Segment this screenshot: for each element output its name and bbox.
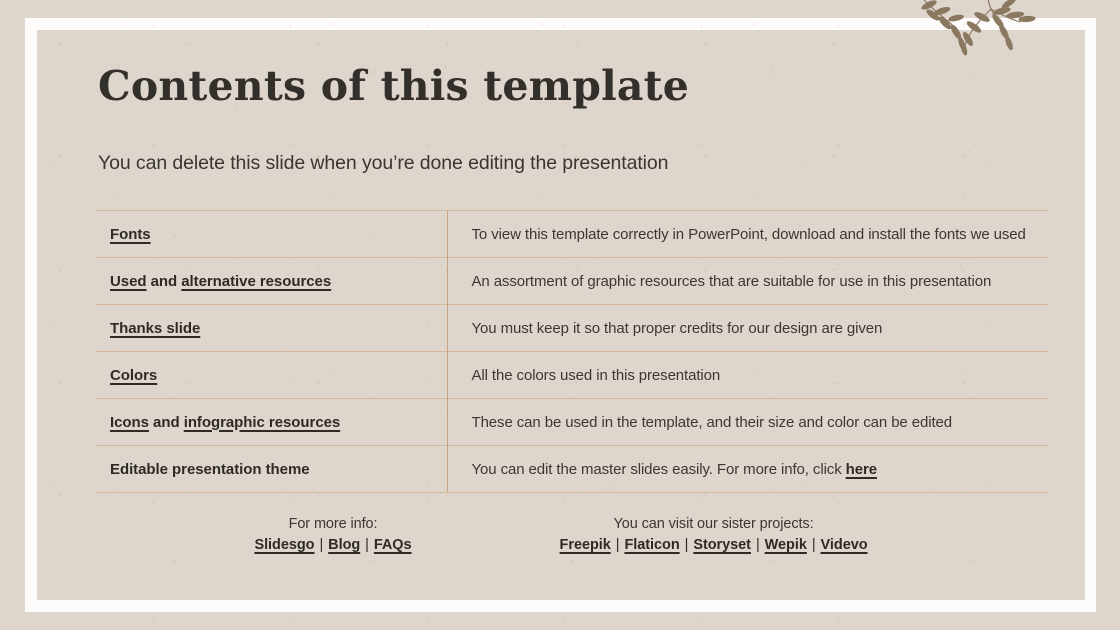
table-cell-label: Thanks slide	[95, 305, 447, 352]
table-label-link[interactable]: infographic resources	[184, 414, 341, 431]
table-row: Thanks slideYou must keep it so that pro…	[95, 305, 1048, 352]
table-label-link[interactable]: Used	[110, 273, 146, 290]
footer: For more info: Slidesgo | Blog | FAQs Yo…	[37, 514, 1085, 557]
table-cell-label: Icons and infographic resources	[95, 399, 447, 446]
table-label-text: Editable presentation theme	[110, 461, 310, 478]
table-label-link[interactable]: Icons	[110, 414, 149, 431]
table-row: Used and alternative resourcesAn assortm…	[95, 258, 1048, 305]
table-cell-label: Colors	[95, 352, 447, 399]
page-title: Contents of this template	[98, 62, 689, 110]
contents-table-body: FontsTo view this template correctly in …	[95, 211, 1048, 493]
contents-table: FontsTo view this template correctly in …	[95, 210, 1048, 493]
table-cell-description: These can be used in the template, and t…	[447, 399, 1048, 446]
table-cell-label: Used and alternative resources	[95, 258, 447, 305]
table-label-link[interactable]: alternative resources	[181, 273, 331, 290]
table-cell-description: You can edit the master slides easily. F…	[447, 446, 1048, 493]
table-description-link[interactable]: here	[846, 461, 877, 478]
footer-link-separator: |	[807, 537, 821, 553]
slide-inner-panel: Contents of this template You can delete…	[37, 30, 1085, 600]
footer-links-more-info: Slidesgo | Blog | FAQs	[254, 535, 411, 557]
footer-link-separator: |	[680, 537, 694, 553]
table-label-link[interactable]: Colors	[110, 367, 157, 384]
footer-link-freepik[interactable]: Freepik	[560, 537, 611, 553]
slide-content: Contents of this template You can delete…	[37, 30, 1085, 600]
table-cell-description: An assortment of graphic resources that …	[447, 258, 1048, 305]
table-description-text: To view this template correctly in Power…	[472, 226, 1026, 243]
table-row: FontsTo view this template correctly in …	[95, 211, 1048, 258]
footer-link-separator: |	[360, 537, 374, 553]
table-description-text: You can edit the master slides easily. F…	[472, 461, 846, 478]
footer-link-storyset[interactable]: Storyset	[693, 537, 751, 553]
table-cell-label: Fonts	[95, 211, 447, 258]
table-description-text: These can be used in the template, and t…	[472, 414, 953, 431]
footer-link-slidesgo[interactable]: Slidesgo	[254, 537, 314, 553]
table-label-text: and	[146, 273, 181, 290]
table-label-text: and	[149, 414, 184, 431]
table-cell-description: You must keep it so that proper credits …	[447, 305, 1048, 352]
footer-link-faqs[interactable]: FAQs	[374, 537, 412, 553]
footer-links-sister-projects: Freepik | Flaticon | Storyset | Wepik | …	[560, 535, 868, 557]
footer-heading-more-info: For more info:	[254, 514, 411, 535]
table-description-text: You must keep it so that proper credits …	[472, 320, 883, 337]
footer-link-wepik[interactable]: Wepik	[765, 537, 807, 553]
footer-column-more-info: For more info: Slidesgo | Blog | FAQs	[254, 514, 411, 557]
slide: Contents of this template You can delete…	[0, 0, 1120, 630]
leaf-branch-icon	[912, 0, 1044, 56]
footer-link-blog[interactable]: Blog	[328, 537, 360, 553]
table-cell-description: All the colors used in this presentation	[447, 352, 1048, 399]
table-label-link[interactable]: Thanks slide	[110, 320, 200, 337]
table-row: Editable presentation themeYou can edit …	[95, 446, 1048, 493]
table-row: Icons and infographic resourcesThese can…	[95, 399, 1048, 446]
table-cell-description: To view this template correctly in Power…	[447, 211, 1048, 258]
footer-link-separator: |	[314, 537, 328, 553]
table-description-text: All the colors used in this presentation	[472, 367, 721, 384]
table-row: ColorsAll the colors used in this presen…	[95, 352, 1048, 399]
footer-link-separator: |	[751, 537, 765, 553]
footer-link-flaticon[interactable]: Flaticon	[624, 537, 679, 553]
page-subtitle: You can delete this slide when you’re do…	[98, 152, 668, 175]
footer-link-separator: |	[611, 537, 625, 553]
table-description-text: An assortment of graphic resources that …	[472, 273, 992, 290]
footer-link-videvo[interactable]: Videvo	[821, 537, 868, 553]
table-cell-label: Editable presentation theme	[95, 446, 447, 493]
footer-heading-sister-projects: You can visit our sister projects:	[560, 514, 868, 535]
table-label-link[interactable]: Fonts	[110, 226, 151, 243]
footer-column-sister-projects: You can visit our sister projects: Freep…	[560, 514, 868, 557]
